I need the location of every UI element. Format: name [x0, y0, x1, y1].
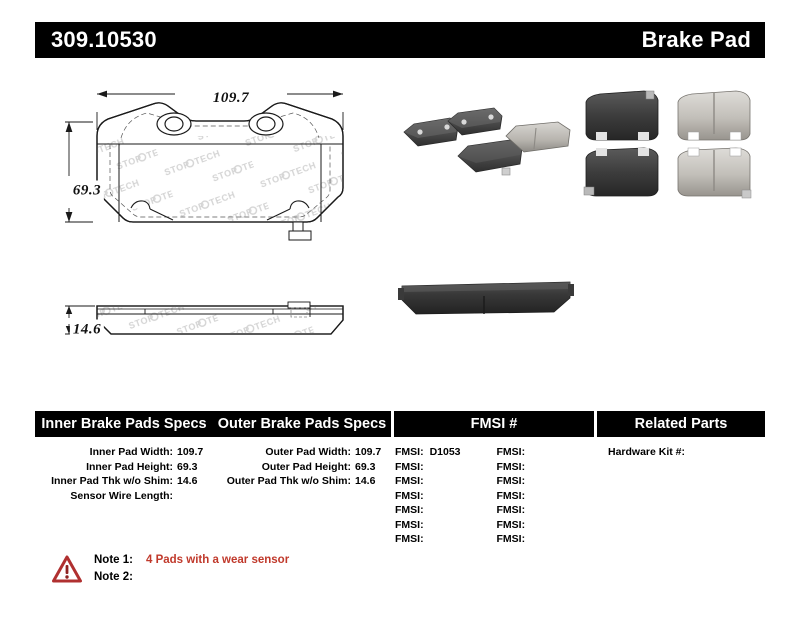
- fmsi-value: [525, 519, 531, 531]
- outer-spec-value: 69.3: [355, 460, 391, 475]
- fmsi-label: FMSI:: [395, 461, 424, 473]
- note-row-2: Note 2:: [94, 569, 289, 586]
- fmsi-row: FMSI:: [391, 474, 493, 489]
- outer-spec-row: Outer Pad Width:109.7: [213, 445, 391, 460]
- fmsi-row: FMSI:: [493, 503, 595, 518]
- dimension-height: [65, 122, 93, 222]
- fmsi-subcolumn-1: FMSI:D1053FMSI:FMSI:FMSI:FMSI:FMSI:FMSI:: [391, 445, 493, 547]
- warning-triangle-icon: [52, 554, 82, 584]
- inner-spec-value: 69.3: [177, 460, 213, 475]
- inner-spec-row: Inner Pad Thk w/o Shim:14.6: [35, 474, 213, 489]
- fmsi-row: FMSI:: [391, 503, 493, 518]
- brake-pad-front-outline: [97, 103, 343, 240]
- photo-four-pads-angled: [398, 96, 574, 182]
- fmsi-value: [525, 504, 531, 516]
- fmsi-row: FMSI:D1053: [391, 445, 493, 460]
- fmsi-label: FMSI:: [497, 533, 526, 545]
- brake-pad-side-outline: [97, 302, 343, 334]
- outer-spec-label: Outer Pad Height:: [213, 460, 355, 475]
- dimension-thickness-label: 14.6: [70, 320, 104, 341]
- fmsi-value: [525, 446, 531, 458]
- outer-spec-row: Outer Pad Height:69.3: [213, 460, 391, 475]
- column-header-outer-specs: Outer Brake Pads Specs: [213, 411, 391, 437]
- product-type-title: Brake Pad: [642, 29, 751, 51]
- inner-spec-value: 14.6: [177, 474, 213, 489]
- fmsi-label: FMSI:: [395, 446, 424, 458]
- outer-spec-label: Outer Pad Thk w/o Shim:: [213, 474, 355, 489]
- fmsi-value: D1053: [424, 446, 461, 458]
- fmsi-row: FMSI:: [391, 532, 493, 547]
- fmsi-row: FMSI:: [493, 474, 595, 489]
- photo-pad-edge-view: [396, 274, 576, 322]
- fmsi-value: [525, 461, 531, 473]
- outer-specs-column: Outer Pad Width:109.7Outer Pad Height:69…: [213, 445, 391, 547]
- inner-spec-row: Inner Pad Height:69.3: [35, 460, 213, 475]
- outer-spec-row: Outer Pad Thk w/o Shim:14.6: [213, 474, 391, 489]
- note-text: [140, 569, 146, 586]
- outer-spec-value: 14.6: [355, 474, 391, 489]
- dimension-width-label: 109.7: [208, 90, 254, 107]
- header-bar: 309.10530 Brake Pad: [35, 22, 765, 58]
- fmsi-label: FMSI:: [497, 446, 526, 458]
- inner-spec-value: 109.7: [177, 445, 213, 460]
- inner-spec-row: Sensor Wire Length:: [35, 489, 213, 504]
- outer-spec-value: 109.7: [355, 445, 391, 460]
- inner-spec-label: Sensor Wire Length:: [35, 489, 177, 504]
- note-row-1: Note 1:4 Pads with a wear sensor: [94, 552, 289, 569]
- inner-spec-value: [177, 489, 213, 504]
- fmsi-subcolumn-2: FMSI:FMSI:FMSI:FMSI:FMSI:FMSI:FMSI:: [493, 445, 595, 547]
- fmsi-label: FMSI:: [395, 490, 424, 502]
- fmsi-label: FMSI:: [395, 504, 424, 516]
- related-parts-column: Hardware Kit #:: [594, 445, 762, 547]
- note-label: Note 2:: [94, 569, 140, 586]
- notes-section: Note 1:4 Pads with a wear sensorNote 2:: [52, 552, 289, 586]
- fmsi-row: FMSI:: [493, 489, 595, 504]
- outer-spec-label: Outer Pad Width:: [213, 445, 355, 460]
- inner-spec-label: Inner Pad Width:: [35, 445, 177, 460]
- inner-spec-label: Inner Pad Thk w/o Shim:: [35, 474, 177, 489]
- fmsi-label: FMSI:: [497, 490, 526, 502]
- column-header-fmsi: FMSI #: [394, 411, 594, 437]
- specifications-table: Inner Brake Pads Specs Outer Brake Pads …: [35, 411, 765, 547]
- dimension-height-label: 69.3: [70, 181, 104, 202]
- fmsi-value: [424, 490, 430, 502]
- fmsi-label: FMSI:: [497, 461, 526, 473]
- fmsi-row: FMSI:: [493, 518, 595, 533]
- fmsi-row: FMSI:: [493, 532, 595, 547]
- fmsi-value: [525, 490, 531, 502]
- fmsi-row: FMSI:: [493, 445, 595, 460]
- fmsi-row: FMSI:: [493, 460, 595, 475]
- spec-table-header-row: Inner Brake Pads Specs Outer Brake Pads …: [35, 411, 765, 437]
- fmsi-column: FMSI:D1053FMSI:FMSI:FMSI:FMSI:FMSI:FMSI:…: [391, 445, 594, 547]
- fmsi-label: FMSI:: [395, 533, 424, 545]
- part-number: 309.10530: [51, 29, 157, 51]
- photo-four-pads-grid: [578, 88, 764, 212]
- fmsi-value: [424, 519, 430, 531]
- inner-spec-row: Inner Pad Width:109.7: [35, 445, 213, 460]
- spec-table-body: Inner Pad Width:109.7Inner Pad Height:69…: [35, 437, 765, 547]
- fmsi-label: FMSI:: [497, 475, 526, 487]
- related-part-row: Hardware Kit #:: [608, 445, 762, 460]
- column-header-related-parts: Related Parts: [597, 411, 765, 437]
- inner-spec-label: Inner Pad Height:: [35, 460, 177, 475]
- inner-specs-column: Inner Pad Width:109.7Inner Pad Height:69…: [35, 445, 213, 547]
- fmsi-label: FMSI:: [497, 519, 526, 531]
- fmsi-value: [424, 475, 430, 487]
- fmsi-row: FMSI:: [391, 460, 493, 475]
- fmsi-label: FMSI:: [497, 504, 526, 516]
- wear-sensor-tab: [289, 222, 311, 240]
- notes-list: Note 1:4 Pads with a wear sensorNote 2:: [94, 552, 289, 586]
- fmsi-row: FMSI:: [391, 518, 493, 533]
- fmsi-value: [525, 533, 531, 545]
- fmsi-value: [424, 533, 430, 545]
- fmsi-value: [525, 475, 531, 487]
- fmsi-value: [424, 461, 430, 473]
- note-text: 4 Pads with a wear sensor: [140, 552, 289, 569]
- note-label: Note 1:: [94, 552, 140, 569]
- fmsi-row: FMSI:: [391, 489, 493, 504]
- fmsi-label: FMSI:: [395, 475, 424, 487]
- fmsi-label: FMSI:: [395, 519, 424, 531]
- technical-drawing: STOP TECH STOP TECH: [35, 68, 395, 388]
- column-header-inner-specs: Inner Brake Pads Specs: [35, 411, 213, 437]
- fmsi-value: [424, 504, 430, 516]
